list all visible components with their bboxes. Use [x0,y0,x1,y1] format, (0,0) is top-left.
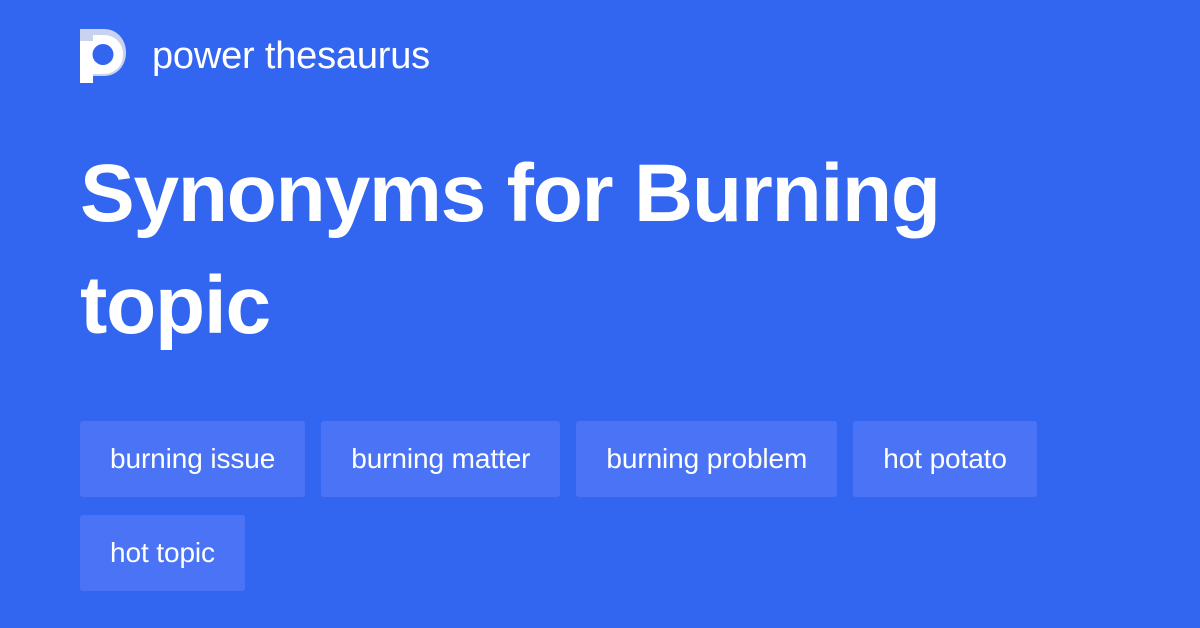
page-title: Synonyms for Burning topic [80,138,1120,362]
synonym-chip[interactable]: burning matter [321,421,560,497]
synonym-chip[interactable]: hot topic [80,515,245,591]
power-thesaurus-b-logo-icon [80,29,126,83]
brand-lockup: power thesaurus [80,28,430,84]
synonym-share-card: power thesaurus Synonyms for Burning top… [0,0,1200,628]
synonym-chip[interactable]: burning issue [80,421,305,497]
synonym-chip[interactable]: hot potato [853,421,1037,497]
brand-name: power thesaurus [152,37,430,75]
synonym-chip[interactable]: burning problem [576,421,837,497]
synonym-chip-list: burning issue burning matter burning pro… [80,421,1140,591]
